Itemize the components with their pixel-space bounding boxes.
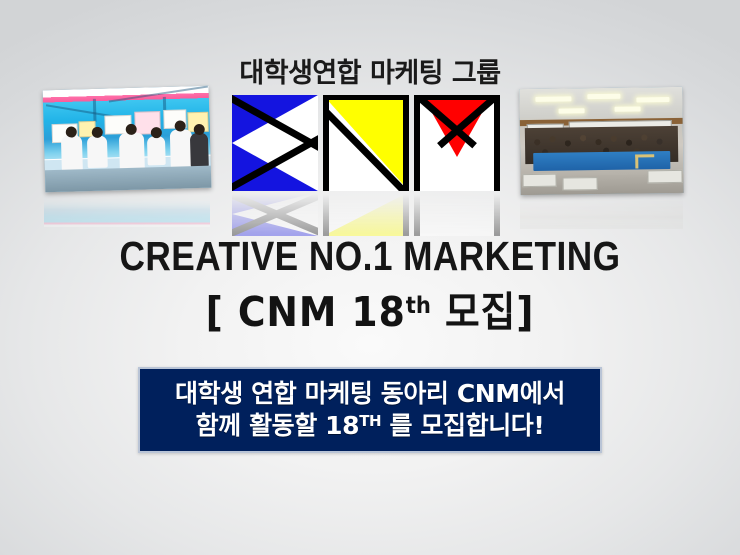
- logo-c-stroke-upper-mirror: [232, 192, 318, 236]
- person-head: [193, 124, 204, 135]
- lecture-hall-scene: [519, 87, 683, 195]
- person: [147, 136, 166, 165]
- banner-line-1: 대학생 연합 마케팅 동아리 CNM에서: [175, 378, 565, 410]
- headline-recruit-superscript: th: [406, 293, 431, 319]
- logo-letter-m: [414, 95, 500, 191]
- headline-recruit: [ CNM 18th 모집]: [30, 278, 711, 338]
- logo-letter-n-mirror: [323, 192, 409, 236]
- desk: [563, 177, 598, 190]
- logo-n-right-bar-mirror: [403, 192, 409, 236]
- photo-booth-reflection: [44, 191, 210, 227]
- person-head: [91, 127, 102, 138]
- photo-blue-banner: [533, 151, 670, 171]
- banner-line-2: 함께 활동할 18TH 를 모집합니다!: [196, 410, 545, 442]
- logo-letter-c: [232, 95, 318, 191]
- person: [190, 133, 209, 167]
- desk: [648, 170, 683, 184]
- logo-m-left-bar: [414, 95, 420, 191]
- logo-n-left-bar-mirror: [323, 192, 329, 236]
- logo-n-right-bar: [403, 95, 409, 191]
- person: [87, 135, 108, 167]
- ceiling-light: [559, 108, 585, 113]
- photo-group-reflection: [520, 195, 683, 229]
- ceiling-light: [637, 97, 670, 102]
- booth-scene-mirror: [44, 191, 210, 227]
- logo-m-right-bar-mirror: [494, 192, 500, 236]
- photo-booth: [43, 86, 212, 193]
- banner-line-2-superscript: TH: [359, 412, 381, 430]
- person-head: [175, 120, 186, 131]
- logo-n-top-line: [323, 95, 409, 100]
- person: [170, 129, 193, 168]
- logo-c-wedge-mirror: [232, 192, 318, 236]
- headline-recruit-suffix: 모집]: [431, 288, 534, 336]
- person: [60, 135, 83, 170]
- logo-letter-c-mirror: [232, 192, 318, 236]
- cnm-logo-reflection: [232, 192, 504, 236]
- cnm-logo: [232, 95, 504, 191]
- photo-group: [519, 87, 683, 195]
- booth-ground: [45, 165, 212, 192]
- desk: [522, 173, 557, 187]
- ceiling-light: [614, 107, 640, 112]
- logo-c-stroke-lower-mirror: [232, 192, 318, 236]
- booth-scene: [43, 86, 212, 193]
- logo-m-right-bar: [494, 95, 500, 191]
- person-head: [125, 124, 136, 135]
- logo-letter-m-mirror: [414, 192, 500, 236]
- banner-line-2-prefix: 함께 활동할 18: [196, 411, 360, 440]
- logo-n-triangle: [323, 95, 409, 191]
- korean-tagline: 대학생연합 마케팅 그룹: [0, 51, 740, 90]
- presentation-slide: 대학생연합 마케팅 그룹: [0, 0, 740, 555]
- person-head: [150, 127, 161, 138]
- logo-n-triangle-mirror: [323, 192, 409, 236]
- person-head: [66, 126, 77, 137]
- banner-line-2-suffix: 를 모집합니다!: [381, 411, 544, 440]
- canopy-pole: [93, 99, 97, 122]
- ceiling-light: [588, 94, 621, 99]
- logo-n-left-bar: [323, 95, 329, 191]
- logo-letter-n: [323, 95, 409, 191]
- logo-m-left-bar-mirror: [414, 192, 420, 236]
- headline-recruit-prefix: [ CNM 18: [206, 288, 406, 336]
- recruitment-banner: 대학생 연합 마케팅 동아리 CNM에서 함께 활동할 18TH 를 모집합니다…: [138, 367, 602, 453]
- headline-creative: CREATIVE NO.1 MARKETING: [52, 233, 688, 280]
- ceiling: [519, 87, 682, 118]
- lecture-hall-scene-mirror: [520, 195, 683, 229]
